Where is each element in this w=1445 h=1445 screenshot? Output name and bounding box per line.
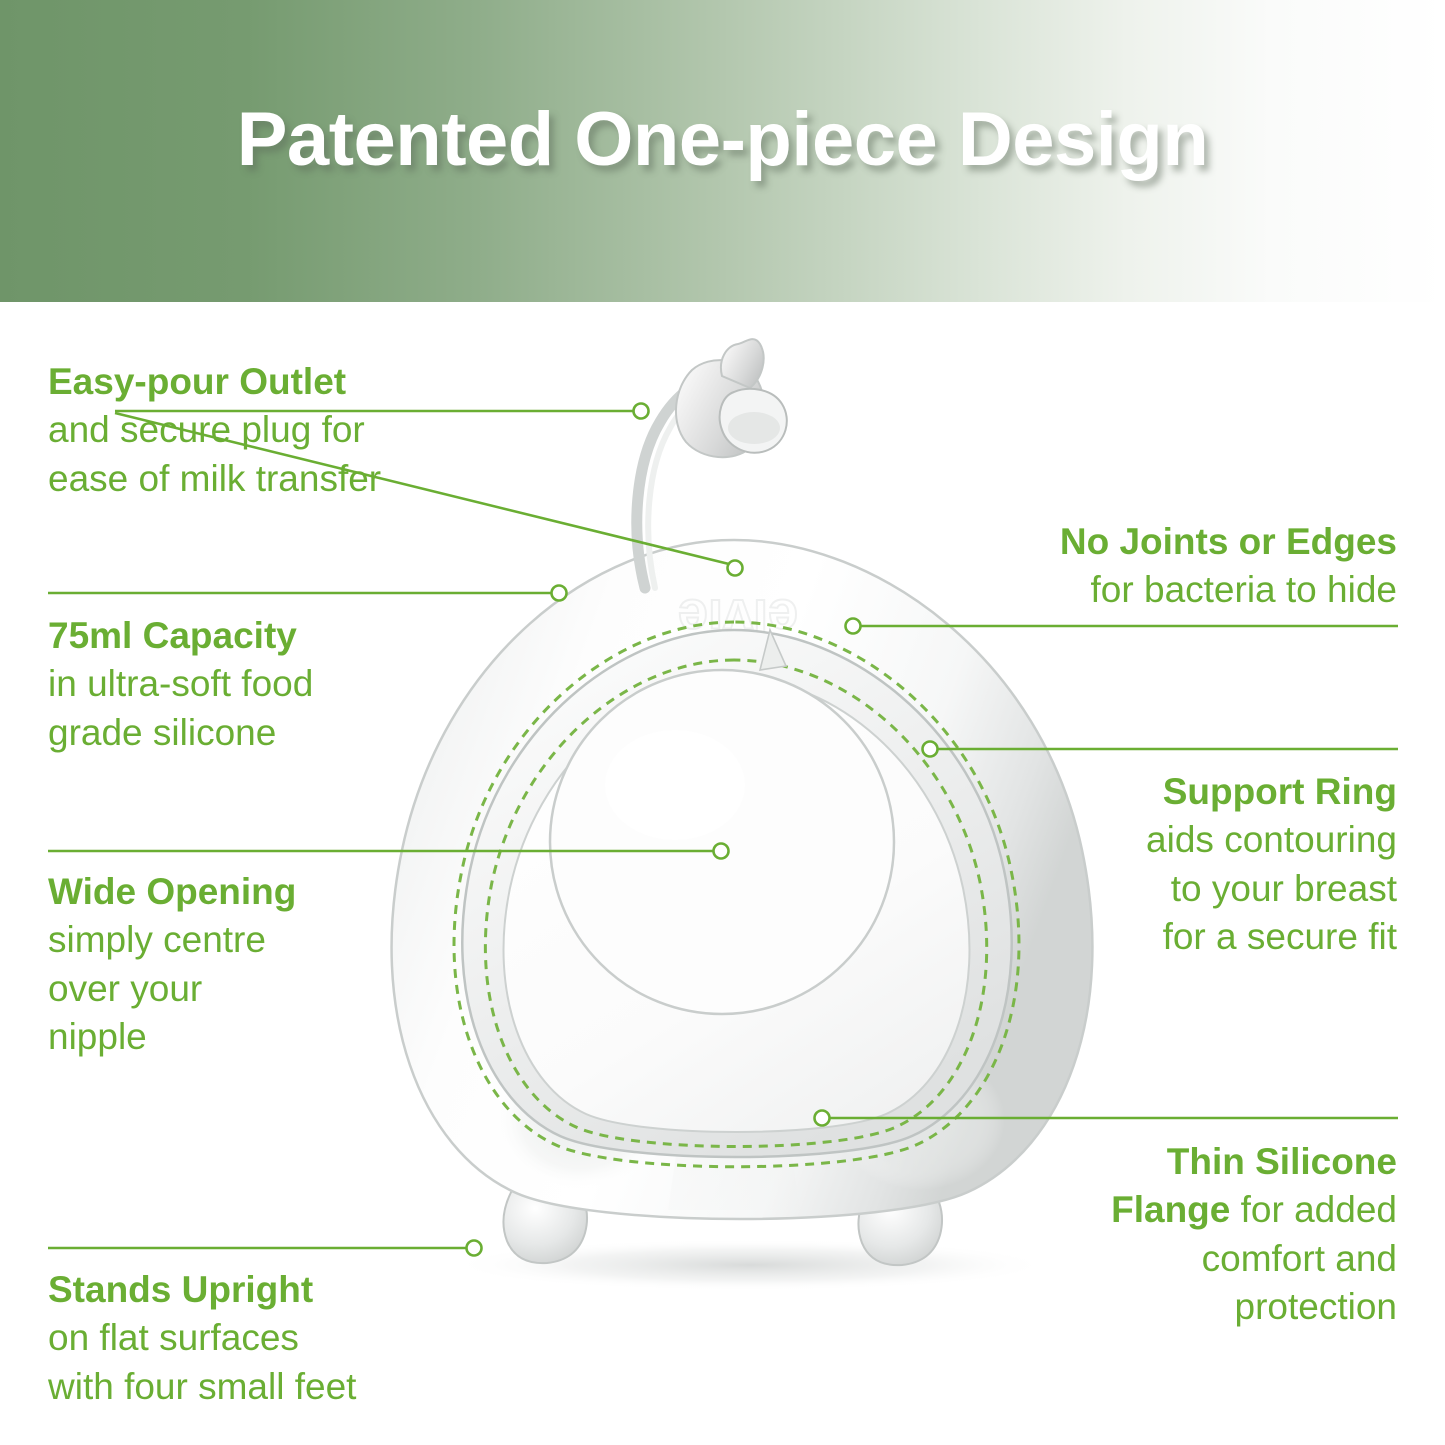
callout-body-thin-flange-line2: for added — [1230, 1189, 1397, 1230]
callout-body-easy-pour-line1: and secure plug for — [48, 406, 468, 454]
callout-thin-silicone-flange: Thin Silicone Flange for added comfort a… — [977, 1138, 1397, 1332]
callout-support-ring: Support Ring aids contouring to your bre… — [977, 768, 1397, 962]
callout-body-easy-pour-line2: ease of milk transfer — [48, 455, 468, 503]
callout-wide-opening: Wide Opening simply centre over your nip… — [48, 868, 428, 1062]
callout-body-thin-flange-line3: comfort and — [977, 1235, 1397, 1283]
callout-heading-thin-flange-line2: Flange — [1111, 1189, 1230, 1230]
callout-body-wide-opening-line2: over your — [48, 965, 428, 1013]
callout-heading-wide-opening: Wide Opening — [48, 871, 296, 912]
callout-heading-support-ring: Support Ring — [1163, 771, 1397, 812]
callout-heading-no-joints: No Joints or Edges — [1060, 521, 1397, 562]
callout-body-wide-opening-line1: simply centre — [48, 916, 428, 964]
callout-body-wide-opening-line3: nipple — [48, 1013, 428, 1061]
callout-body-stands-upright-line2: with four small feet — [48, 1363, 468, 1411]
callout-body-stands-upright-line1: on flat surfaces — [48, 1314, 468, 1362]
callout-body-capacity-line2: grade silicone — [48, 709, 448, 757]
callout-body-no-joints-line1: for bacteria to hide — [937, 566, 1397, 614]
callout-heading-thin-flange-line1: Thin Silicone — [1167, 1141, 1397, 1182]
callout-heading-easy-pour: Easy-pour Outlet — [48, 361, 346, 402]
infographic-page: Patented One-piece Design — [0, 0, 1445, 1445]
callout-body-support-ring-line2: to your breast — [977, 865, 1397, 913]
product-wide-opening — [550, 670, 894, 1014]
callout-stands-upright: Stands Upright on flat surfaces with fou… — [48, 1266, 468, 1411]
callout-no-joints-or-edges: No Joints or Edges for bacteria to hide — [937, 518, 1397, 615]
callout-easy-pour-outlet: Easy-pour Outlet and secure plug for eas… — [48, 358, 468, 503]
callout-capacity: 75ml Capacity in ultra-soft food grade s… — [48, 612, 448, 757]
callout-body-support-ring-line1: aids contouring — [977, 816, 1397, 864]
page-title: Patented One-piece Design — [0, 0, 1445, 302]
callout-body-capacity-line1: in ultra-soft food — [48, 660, 448, 708]
callout-heading-stands-upright: Stands Upright — [48, 1269, 313, 1310]
callout-body-thin-flange-line4: protection — [977, 1283, 1397, 1331]
callout-heading-capacity: 75ml Capacity — [48, 615, 297, 656]
callout-body-support-ring-line3: for a secure fit — [977, 913, 1397, 961]
